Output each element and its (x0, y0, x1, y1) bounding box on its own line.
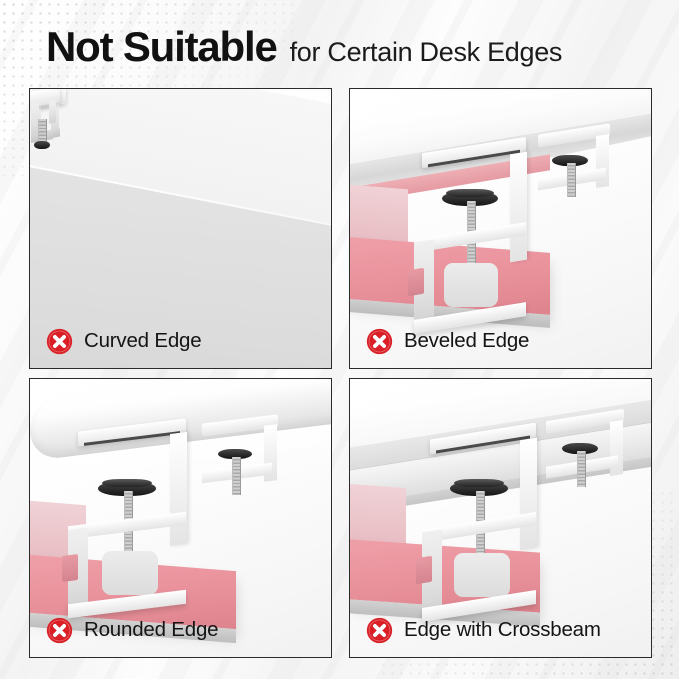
x-circle-icon (366, 328, 393, 355)
caption-edge-with-crossbeam: Edge with Crossbeam (366, 615, 601, 645)
clamp-rear (538, 129, 610, 249)
clamp-front (78, 425, 202, 611)
caption-text: Curved Edge (84, 329, 201, 353)
caption-rounded-edge: Rounded Edge (46, 615, 218, 645)
clamp-front (430, 431, 552, 613)
tray-back-panel (350, 484, 406, 548)
title-main: Not Suitable (46, 26, 277, 68)
caption-text: Beveled Edge (404, 329, 529, 353)
caption-text: Edge with Crossbeam (404, 618, 601, 642)
infographic-canvas: Not Suitable for Certain Desk Edges (0, 0, 679, 679)
caption-text: Rounded Edge (84, 618, 218, 642)
title-subtitle: for Certain Desk Edges (290, 39, 563, 66)
clamp-rear (546, 415, 624, 535)
caption-beveled-edge: Beveled Edge (366, 326, 529, 356)
x-circle-icon (366, 617, 393, 644)
clamp-rear (202, 419, 278, 539)
clamp-front (422, 145, 542, 325)
panel-rounded-edge: Rounded Edge (29, 378, 332, 658)
page-title: Not Suitable for Certain Desk Edges (46, 26, 656, 82)
x-circle-icon (46, 617, 73, 644)
x-circle-icon (46, 328, 73, 355)
panel-edge-with-crossbeam: Edge with Crossbeam (349, 378, 652, 658)
panel-beveled-edge: Beveled Edge (349, 88, 652, 369)
panel-grid: Curved Edge (29, 88, 658, 658)
panel-curved-edge: Curved Edge (29, 88, 332, 369)
caption-curved-edge: Curved Edge (46, 326, 201, 356)
